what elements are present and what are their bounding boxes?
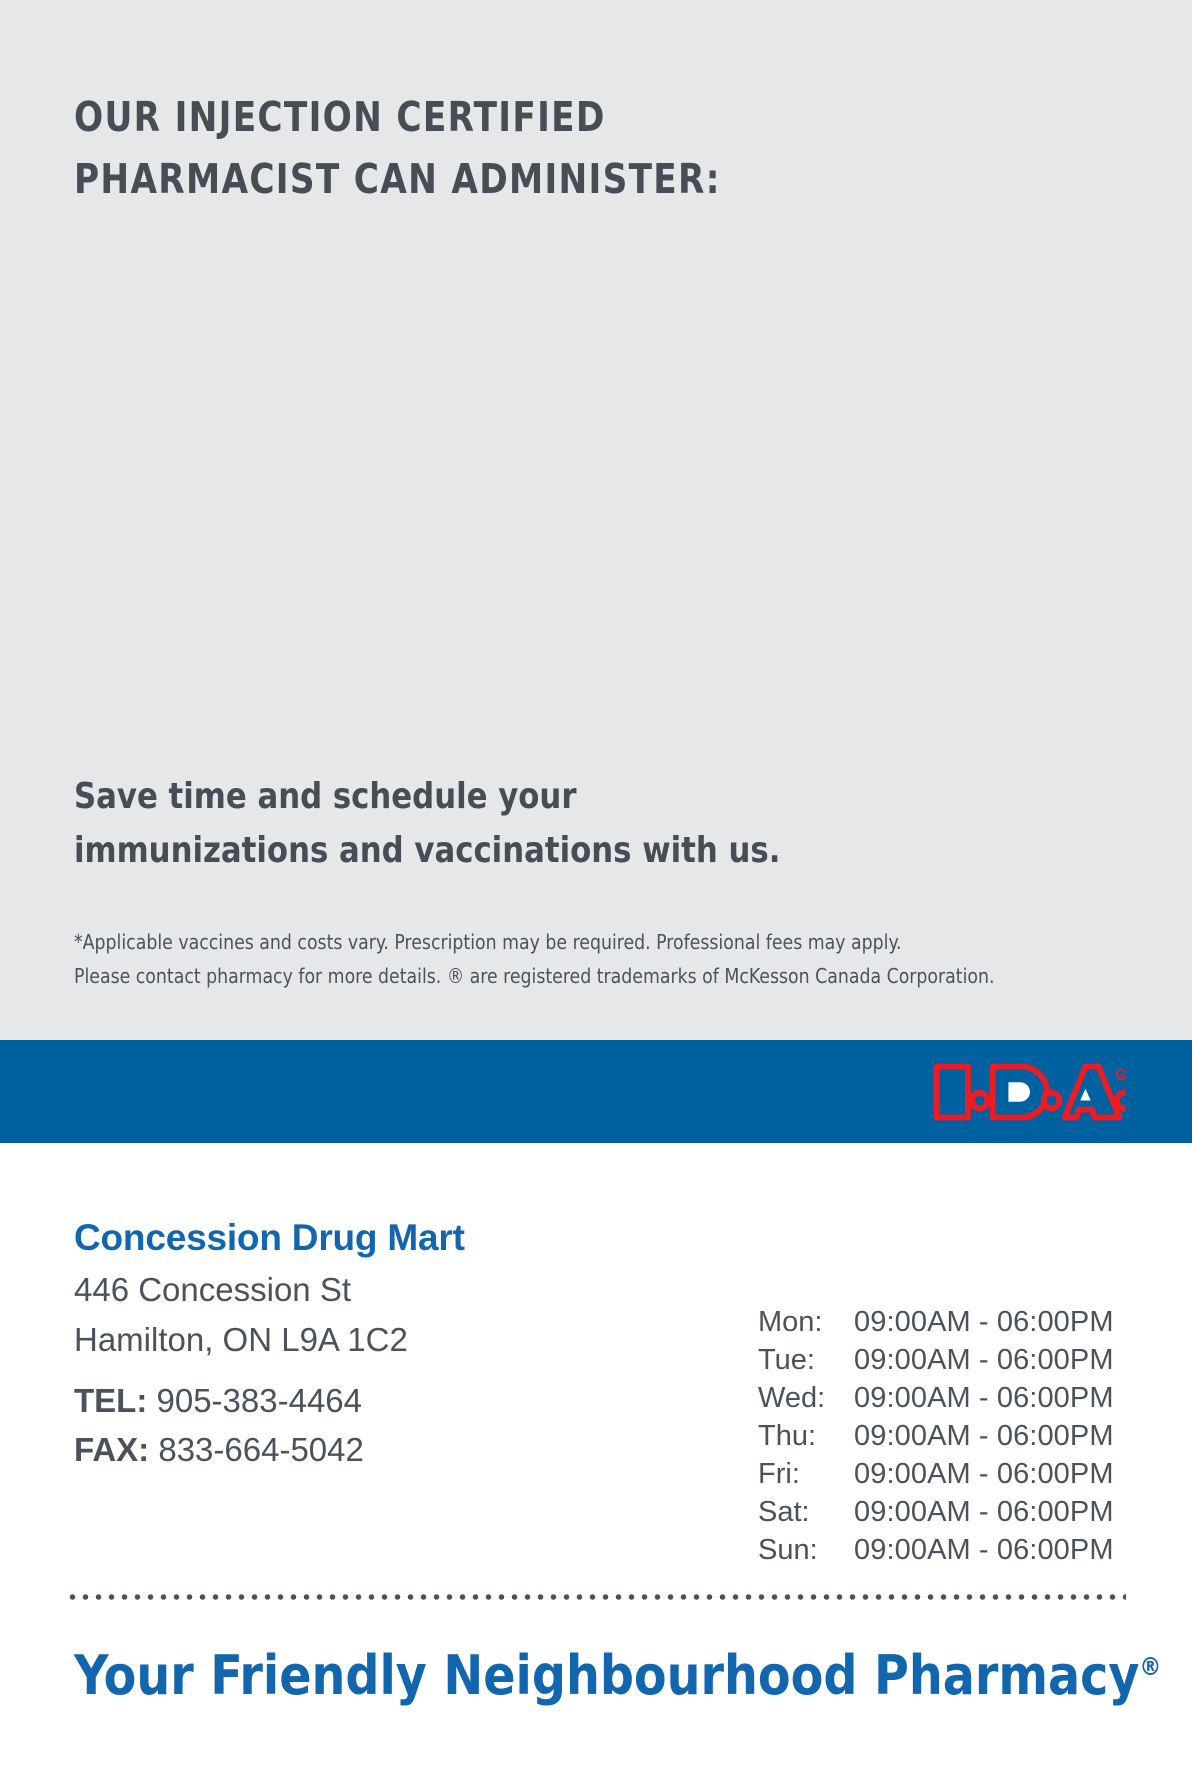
hours-time-value: 09:00AM - 06:00PM — [854, 1493, 1114, 1531]
telephone-label: TEL: — [74, 1382, 147, 1419]
page-title: OUR INJECTION CERTIFIED PHARMACIST CAN A… — [74, 86, 1004, 210]
disclaimer-text: *Applicable vaccines and costs vary. Pre… — [74, 925, 1070, 993]
promo-subheading: Save time and schedule your immunization… — [74, 770, 977, 878]
fax-label: FAX: — [74, 1431, 149, 1468]
store-address: 446 Concession St Hamilton, ON L9A 1C2 — [74, 1265, 408, 1365]
store-details-section: Concession Drug Mart 446 Concession St H… — [0, 1143, 1192, 1785]
hours-day-label: Sat: — [758, 1493, 854, 1531]
hours-time-value: 09:00AM - 06:00PM — [854, 1455, 1114, 1493]
dotted-divider — [66, 1593, 1126, 1601]
promo-subheading-line-2: immunizations and vaccinations with us. — [74, 824, 977, 878]
hours-time-value: 09:00AM - 06:00PM — [854, 1341, 1114, 1379]
hours-day-label: Thu: — [758, 1417, 854, 1455]
hours-time-value: 09:00AM - 06:00PM — [854, 1417, 1114, 1455]
hours-row: Wed: 09:00AM - 06:00PM — [758, 1379, 1114, 1417]
hours-day-label: Wed: — [758, 1379, 854, 1417]
promo-subheading-line-1: Save time and schedule your — [74, 770, 977, 824]
page-title-line-1: OUR INJECTION CERTIFIED — [74, 86, 1004, 148]
hours-day-label: Fri: — [758, 1455, 854, 1493]
telephone-row: TEL: 905-383-4464 — [74, 1376, 364, 1425]
vaccine-artwork-placeholder — [74, 230, 1118, 660]
pharmacy-flyer: OUR INJECTION CERTIFIED PHARMACIST CAN A… — [0, 0, 1192, 1785]
hours-row: Tue: 09:00AM - 06:00PM — [758, 1341, 1114, 1379]
tagline-text: Your Friendly Neighbourhood Pharmacy — [74, 1644, 1139, 1707]
fax-value: 833-664-5042 — [158, 1431, 364, 1468]
disclaimer-line-1: *Applicable vaccines and costs vary. Pre… — [74, 925, 1070, 959]
telephone-value[interactable]: 905-383-4464 — [157, 1382, 363, 1419]
hours-row: Mon: 09:00AM - 06:00PM — [758, 1303, 1114, 1341]
registered-trademark-icon: ® — [1139, 1652, 1161, 1681]
brand-band: R — [0, 1040, 1192, 1143]
hours-day-label: Tue: — [758, 1341, 854, 1379]
hours-row: Sat: 09:00AM - 06:00PM — [758, 1493, 1114, 1531]
hours-day-label: Sun: — [758, 1531, 854, 1569]
hours-row: Fri: 09:00AM - 06:00PM — [758, 1455, 1114, 1493]
fax-row: FAX: 833-664-5042 — [74, 1425, 364, 1474]
ida-logo: R — [930, 1060, 1126, 1124]
store-name: Concession Drug Mart — [74, 1216, 465, 1260]
hours-day-label: Mon: — [758, 1303, 854, 1341]
disclaimer-line-2: Please contact pharmacy for more details… — [74, 959, 1070, 993]
store-hours-table: Mon: 09:00AM - 06:00PM Tue: 09:00AM - 06… — [758, 1303, 1114, 1569]
promo-panel: OUR INJECTION CERTIFIED PHARMACIST CAN A… — [0, 0, 1192, 1040]
hours-time-value: 09:00AM - 06:00PM — [854, 1303, 1114, 1341]
store-contact: TEL: 905-383-4464 FAX: 833-664-5042 — [74, 1376, 364, 1474]
address-line-2: Hamilton, ON L9A 1C2 — [74, 1315, 408, 1365]
hours-row: Sun: 09:00AM - 06:00PM — [758, 1531, 1114, 1569]
svg-text:R: R — [1119, 1072, 1123, 1078]
hours-time-value: 09:00AM - 06:00PM — [854, 1379, 1114, 1417]
hours-time-value: 09:00AM - 06:00PM — [854, 1531, 1114, 1569]
tagline: Your Friendly Neighbourhood Pharmacy® — [74, 1643, 1161, 1709]
page-title-line-2: PHARMACIST CAN ADMINISTER: — [74, 148, 1004, 210]
address-line-1: 446 Concession St — [74, 1265, 408, 1315]
hours-row: Thu: 09:00AM - 06:00PM — [758, 1417, 1114, 1455]
